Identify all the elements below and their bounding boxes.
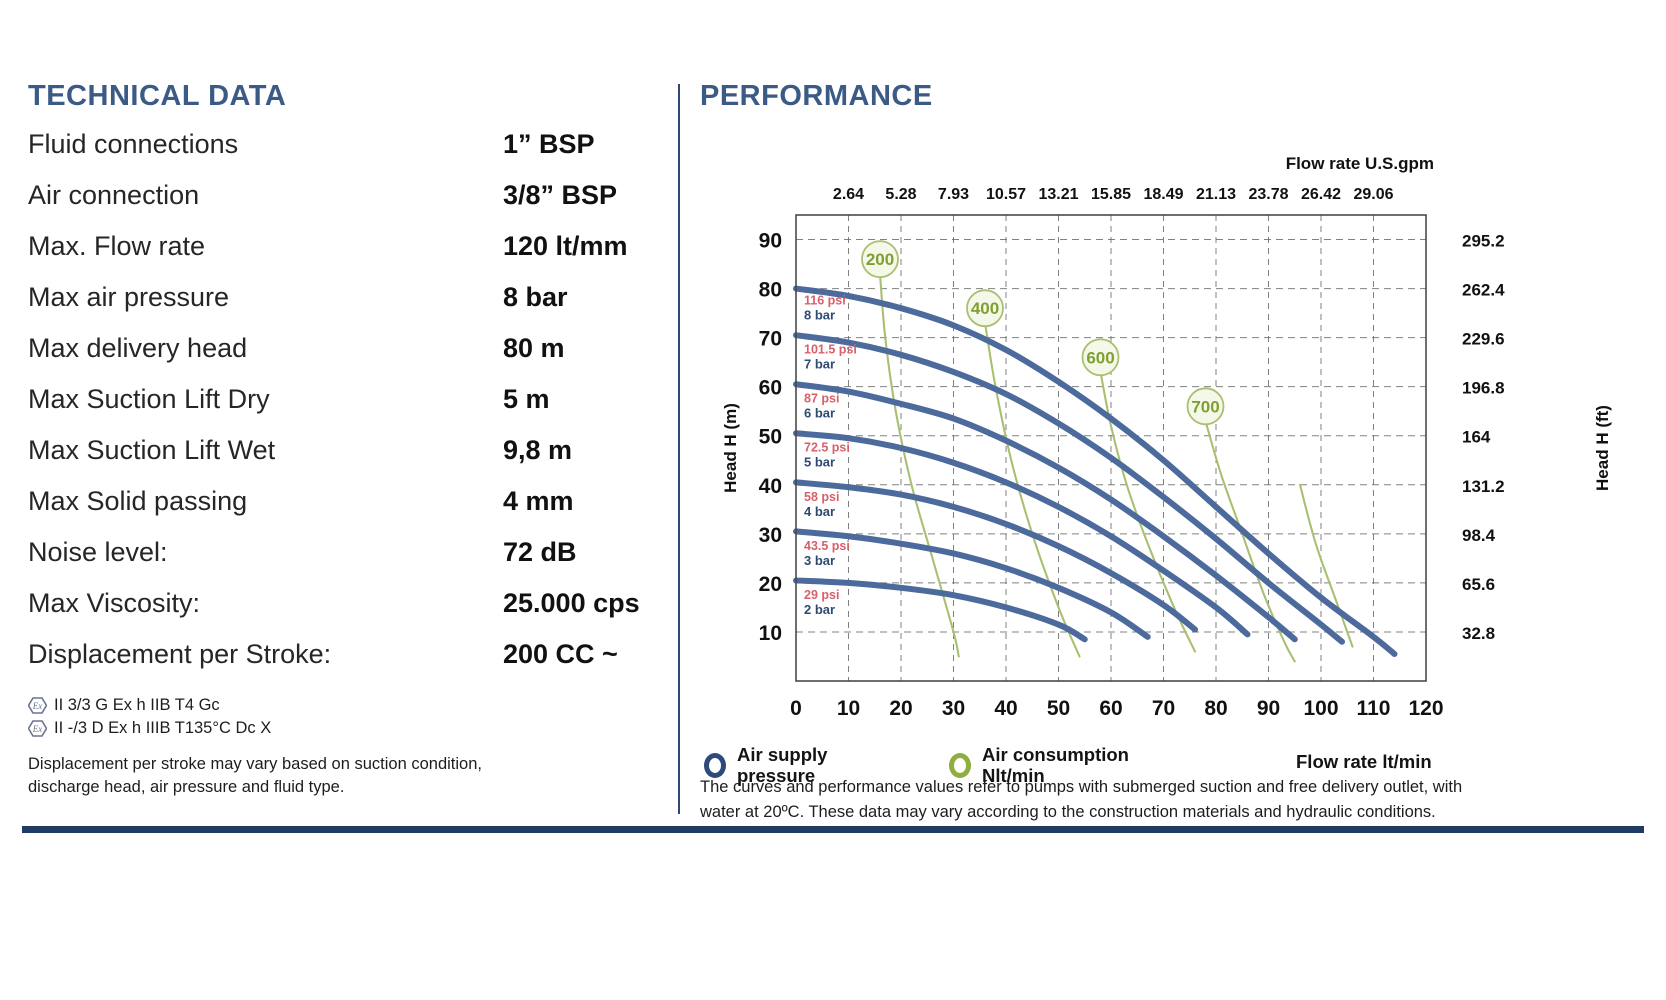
pressure-psi-label: 58 psi: [804, 490, 839, 504]
air-consumption-label: 200: [866, 250, 894, 269]
air-consumption-label: 700: [1191, 397, 1219, 416]
pressure-psi-label: 43.5 psi: [804, 539, 850, 553]
y-tick-label: 90: [759, 230, 782, 253]
datasheet-page: TECHNICAL DATA Fluid connections1” BSPAi…: [0, 0, 1666, 1000]
top-tick-label: 7.93: [938, 186, 969, 203]
x-tick-label: 70: [1152, 697, 1175, 720]
legend-flow-rate-label: Flow rate lt/min: [1296, 751, 1432, 773]
spec-label: Air connection: [28, 180, 199, 211]
top-tick-label: 21.13: [1196, 186, 1236, 203]
spec-label: Max Suction Lift Dry: [28, 384, 270, 415]
x-tick-label: 20: [889, 697, 912, 720]
displacement-note-line2: discharge head, air pressure and fluid t…: [28, 776, 668, 799]
spec-value: 9,8 m: [503, 435, 572, 466]
right-tick-label: 229.6: [1462, 330, 1505, 349]
spec-row: Max. Flow rate120 lt/mm: [28, 231, 668, 282]
top-tick-label: 5.28: [885, 186, 916, 203]
legend-air-consumption-text: Air consumption Nlt/min: [982, 745, 1129, 786]
pressure-bar-label: 5 bar: [804, 455, 835, 470]
displacement-note: Displacement per stroke may vary based o…: [28, 753, 668, 800]
pressure-bar-label: 7 bar: [804, 357, 835, 372]
spec-row: Max Solid passing4 mm: [28, 486, 668, 537]
air-consumption-label: 400: [971, 299, 999, 318]
spec-value: 25.000 cps: [503, 588, 640, 619]
x-tick-label: 60: [1099, 697, 1122, 720]
top-tick-label: 13.21: [1038, 186, 1078, 203]
spec-label: Noise level:: [28, 537, 168, 568]
chart-curves: 200400600700: [796, 241, 1395, 661]
y-tick-label: 10: [759, 622, 782, 645]
y-tick-label: 70: [759, 328, 782, 351]
spec-label: Fluid connections: [28, 129, 238, 160]
legend-air-supply-line2: pressure: [737, 765, 815, 786]
atex-text: II -/3 D Ex h IIIB T135°C Dc X: [54, 719, 271, 738]
pressure-psi-label: 87 psi: [804, 392, 839, 406]
atex-line: ExII 3/3 G Ex h IIB T4 Gc: [28, 694, 668, 717]
pressure-bar-label: 2 bar: [804, 602, 835, 617]
x-tick-label: 50: [1047, 697, 1070, 720]
legend-air-supply: Air supply pressure: [704, 745, 827, 786]
spec-value: 80 m: [503, 333, 565, 364]
top-tick-label: 29.06: [1353, 186, 1393, 203]
technical-data-column: TECHNICAL DATA Fluid connections1” BSPAi…: [28, 80, 668, 800]
top-tick-label: 10.57: [986, 186, 1026, 203]
svg-text:Ex: Ex: [32, 701, 43, 711]
performance-chart: 200400600700102030405060708090Head H (m)…: [700, 129, 1640, 749]
bottom-rule: [22, 826, 1644, 833]
right-tick-label: 131.2: [1462, 477, 1505, 496]
legend-air-consumption: Air consumption Nlt/min: [949, 745, 1129, 786]
pressure-bar-label: 4 bar: [804, 504, 835, 519]
spec-value: 8 bar: [503, 282, 568, 313]
x-tick-label: 10: [837, 697, 860, 720]
top-axis-title: Flow rate U.S.gpm: [1286, 154, 1434, 173]
right-tick-label: 164: [1462, 428, 1491, 447]
spec-row: Fluid connections1” BSP: [28, 129, 668, 180]
spec-value: 120 lt/mm: [503, 231, 628, 262]
spec-value: 4 mm: [503, 486, 574, 517]
pressure-bar-label: 3 bar: [804, 553, 835, 568]
x-tick-label: 90: [1257, 697, 1280, 720]
x-tick-label: 110: [1357, 697, 1391, 720]
atex-text: II 3/3 G Ex h IIB T4 Gc: [54, 696, 220, 715]
x-tick-label: 30: [942, 697, 965, 720]
spec-label: Max Suction Lift Wet: [28, 435, 275, 466]
top-tick-label: 18.49: [1143, 186, 1183, 203]
spec-row: Displacement per Stroke:200 CC ~: [28, 639, 668, 690]
y-tick-label: 80: [759, 279, 782, 302]
right-tick-label: 262.4: [1462, 281, 1505, 300]
spec-row: Max Suction Lift Wet9,8 m: [28, 435, 668, 486]
spec-label: Max. Flow rate: [28, 231, 205, 262]
spec-label: Displacement per Stroke:: [28, 639, 331, 670]
green-ring-icon: [949, 753, 971, 778]
air-consumption-label: 600: [1086, 348, 1114, 367]
spec-value: 1” BSP: [503, 129, 595, 160]
pressure-bar-label: 8 bar: [804, 308, 835, 323]
svg-text:Ex: Ex: [32, 724, 43, 734]
pressure-psi-label: 72.5 psi: [804, 441, 850, 455]
performance-column: PERFORMANCE 2004006007001020304050607080…: [700, 80, 1640, 825]
spec-row: Max Viscosity:25.000 cps: [28, 588, 668, 639]
right-tick-label: 65.6: [1462, 575, 1495, 594]
pressure-psi-label: 29 psi: [804, 588, 839, 602]
y-axis-title: Head H (m): [721, 403, 740, 493]
atex-marking-list: ExII 3/3 G Ex h IIB T4 GcExII -/3 D Ex h…: [28, 694, 668, 740]
top-tick-label: 15.85: [1091, 186, 1131, 203]
y-tick-label: 40: [759, 475, 782, 498]
legend-air-consumption-line2: Nlt/min: [982, 765, 1045, 786]
performance-note-line2: water at 20ºC. These data may vary accor…: [700, 800, 1640, 825]
pressure-curve: [796, 433, 1248, 634]
right-tick-label: 295.2: [1462, 232, 1505, 251]
y-tick-label: 20: [759, 573, 782, 596]
top-tick-label: 26.42: [1301, 186, 1341, 203]
spec-row: Max air pressure8 bar: [28, 282, 668, 333]
performance-title: PERFORMANCE: [700, 80, 1640, 113]
spec-label: Max air pressure: [28, 282, 229, 313]
x-tick-label: 40: [994, 697, 1017, 720]
column-divider: [678, 84, 680, 814]
spec-row: Air connection3/8” BSP: [28, 180, 668, 231]
spec-value: 3/8” BSP: [503, 180, 617, 211]
air-consumption-curve: [1300, 485, 1353, 647]
spec-row: Max delivery head80 m: [28, 333, 668, 384]
x-tick-label: 80: [1204, 697, 1227, 720]
performance-chart-svg: 200400600700102030405060708090Head H (m)…: [700, 129, 1640, 741]
x-tick-label: 0: [790, 697, 802, 720]
spec-list: Fluid connections1” BSPAir connection3/8…: [28, 129, 668, 690]
spec-label: Max Viscosity:: [28, 588, 200, 619]
right-tick-label: 98.4: [1462, 526, 1496, 545]
spec-row: Noise level:72 dB: [28, 537, 668, 588]
spec-row: Max Suction Lift Dry5 m: [28, 384, 668, 435]
legend-air-consumption-line1: Air consumption: [982, 744, 1129, 765]
spec-value: 200 CC ~: [503, 639, 618, 670]
right-axis-title: Head H (ft): [1593, 405, 1612, 491]
y-tick-label: 60: [759, 377, 782, 400]
chart-legend: Air supply pressure Air consumption Nlt/…: [700, 741, 1640, 801]
legend-air-supply-text: Air supply pressure: [737, 745, 827, 786]
ex-badge-icon: Ex: [28, 697, 47, 714]
x-tick-label: 120: [1408, 697, 1443, 720]
pressure-psi-label: 116 psi: [804, 294, 846, 308]
right-tick-label: 32.8: [1462, 624, 1495, 643]
y-tick-label: 30: [759, 524, 782, 547]
displacement-note-line1: Displacement per stroke may vary based o…: [28, 753, 668, 776]
spec-value: 72 dB: [503, 537, 577, 568]
pressure-psi-label: 101.5 psi: [804, 343, 857, 357]
top-tick-label: 23.78: [1248, 186, 1288, 203]
air-consumption-curve: [880, 274, 959, 657]
spec-label: Max Solid passing: [28, 486, 247, 517]
spec-value: 5 m: [503, 384, 550, 415]
top-tick-label: 2.64: [833, 186, 864, 203]
atex-line: ExII -/3 D Ex h IIIB T135°C Dc X: [28, 717, 668, 740]
technical-data-title: TECHNICAL DATA: [28, 80, 668, 113]
pressure-bar-label: 6 bar: [804, 406, 835, 421]
ex-badge-icon: Ex: [28, 720, 47, 737]
right-tick-label: 196.8: [1462, 379, 1505, 398]
x-tick-label: 100: [1303, 697, 1338, 720]
y-tick-label: 50: [759, 426, 782, 449]
legend-air-supply-line1: Air supply: [737, 744, 827, 765]
spec-label: Max delivery head: [28, 333, 247, 364]
blue-ring-icon: [704, 753, 726, 778]
